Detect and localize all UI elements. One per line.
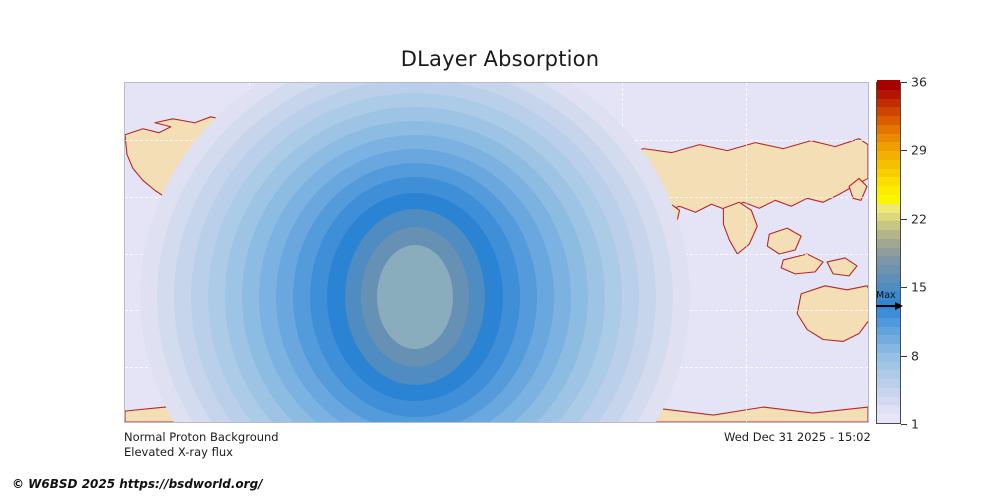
colorbar-segment	[877, 352, 900, 361]
colorbar-segment	[877, 344, 900, 353]
map-canvas[interactable]	[124, 82, 869, 423]
colorbar-segment	[877, 221, 900, 230]
map-inner	[125, 83, 868, 422]
colorbar-tick	[901, 82, 907, 83]
page-title: DLayer Absorption	[0, 47, 1000, 71]
colorbar-segment	[877, 361, 900, 370]
colorbar-tick	[901, 356, 907, 357]
timestamp-text: Wed Dec 31 2025 - 15:02	[724, 430, 871, 444]
colorbar-segment	[877, 203, 900, 212]
colorbar-segment	[877, 98, 900, 107]
colorbar-segment	[877, 107, 900, 116]
colorbar-segment	[877, 168, 900, 177]
colorbar-segment	[877, 116, 900, 125]
colorbar-segment	[877, 151, 900, 160]
colorbar-segment	[877, 387, 900, 396]
colorbar-segment	[877, 379, 900, 388]
colorbar-segment	[877, 405, 900, 414]
figure-root: DLayer Absorption	[0, 0, 1000, 500]
colorbar-segment	[877, 177, 900, 186]
proton-status-text: Normal Proton Background	[124, 430, 279, 444]
colorbar-segment	[877, 282, 900, 291]
colorbar-segment	[877, 256, 900, 265]
colorbar-segment	[877, 194, 900, 203]
colorbar-tick	[901, 424, 907, 425]
colorbar-segment	[877, 308, 900, 317]
colorbar-segment	[877, 300, 900, 309]
colorbar-segment	[877, 370, 900, 379]
colorbar-segment	[877, 142, 900, 151]
colorbar-segment	[877, 159, 900, 168]
colorbar-segment	[877, 317, 900, 326]
colorbar-segment	[877, 230, 900, 239]
colorbar-segment	[877, 186, 900, 195]
colorbar-segment	[877, 124, 900, 133]
colorbar-segment	[877, 133, 900, 142]
colorbar-segment	[877, 291, 900, 300]
colorbar-segment	[877, 89, 900, 98]
colorbar-segment	[877, 212, 900, 221]
colorbar-segment	[877, 273, 900, 282]
colorbar-segment	[877, 247, 900, 256]
colorbar-segment	[877, 238, 900, 247]
colorbar-segment	[877, 414, 900, 423]
colorbar-gradient	[876, 82, 901, 424]
colorbar-segment	[877, 396, 900, 405]
colorbar-segment	[877, 80, 900, 89]
xray-status-text: Elevated X-ray flux	[124, 445, 233, 459]
colorbar-segment	[877, 335, 900, 344]
copyright-text: © W6BSD 2025 https://bsdworld.org/	[12, 477, 263, 491]
coastline-layer	[125, 83, 868, 422]
colorbar-axis-label: Affected Frequency (MHz)	[915, 82, 1000, 424]
colorbar-tick	[901, 150, 907, 151]
colorbar-segment	[877, 326, 900, 335]
colorbar-tick	[901, 287, 907, 288]
colorbar-tick	[901, 219, 907, 220]
colorbar[interactable]: 1815222936 Max	[876, 82, 901, 424]
colorbar-segment	[877, 265, 900, 274]
